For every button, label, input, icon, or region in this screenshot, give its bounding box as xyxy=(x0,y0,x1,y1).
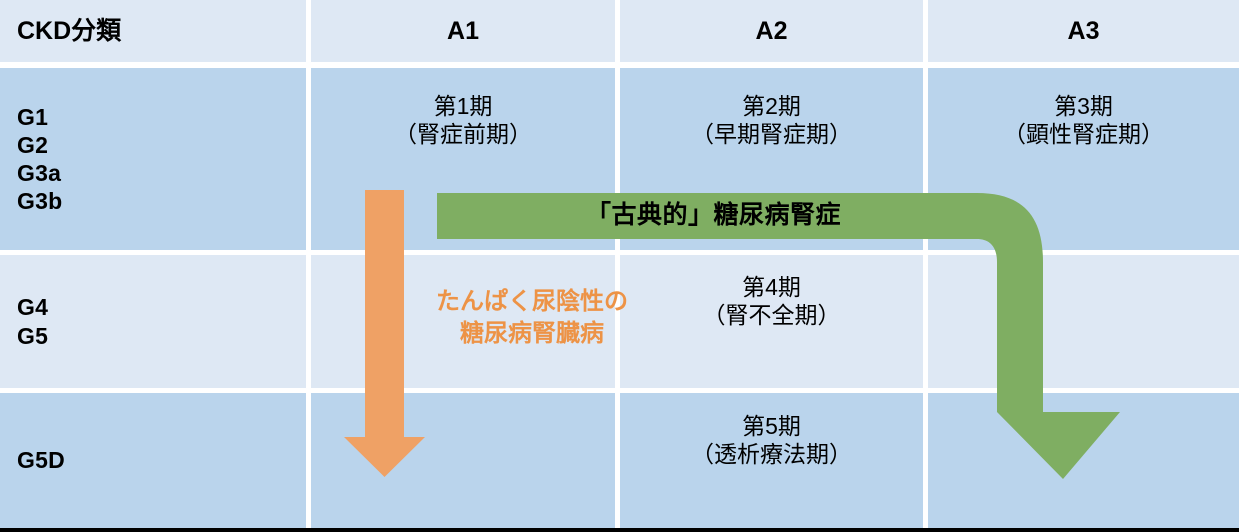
grade-label-g4: G4 xyxy=(17,293,48,321)
ckd-classification-figure: CKD分類 A1 A2 A3 G1 G2 G3a G3b 第1期 （腎症前期） … xyxy=(0,0,1239,532)
cell-r3-a3 xyxy=(928,393,1239,528)
stage-paren-r2-a2: （腎不全期） xyxy=(703,301,841,329)
grade-label-g1: G1 xyxy=(17,103,62,131)
stage-paren-r1-a2: （早期腎症期） xyxy=(691,120,852,148)
grade-label-g2: G2 xyxy=(17,131,62,159)
row-grades-g1-g3b: G1 G2 G3a G3b xyxy=(0,68,306,250)
header-cell-a3: A3 xyxy=(928,0,1239,62)
row-grades-g4-g5: G4 G5 xyxy=(0,255,306,388)
green-arrow-label: 「古典的」糖尿病腎症 xyxy=(437,193,990,239)
header-cell-a1: A1 xyxy=(311,0,615,62)
header-cell-title: CKD分類 xyxy=(0,0,306,62)
grade-label-g3b: G3b xyxy=(17,187,62,215)
header-cell-a2: A2 xyxy=(620,0,923,62)
cell-r2-a3 xyxy=(928,255,1239,388)
grade-label-g3a: G3a xyxy=(17,159,62,187)
orange-arrow-label-line1: たんぱく尿陰性の xyxy=(398,286,666,318)
figure-bottom-rule xyxy=(0,528,1239,532)
stage-paren-r1-a1: （腎症前期） xyxy=(394,120,532,148)
stage-name-r1-a1: 第1期 xyxy=(394,92,532,120)
orange-arrow-label: たんぱく尿陰性の 糖尿病腎臓病 xyxy=(398,286,666,349)
grade-label-g5d: G5D xyxy=(17,446,65,474)
grade-label-g5: G5 xyxy=(17,322,48,350)
stage-name-r3-a2: 第5期 xyxy=(691,412,852,440)
stage-paren-r3-a2: （透析療法期） xyxy=(691,440,852,468)
ckd-table: CKD分類 A1 A2 A3 G1 G2 G3a G3b 第1期 （腎症前期） … xyxy=(0,0,1239,528)
stage-paren-r1-a3: （顕性腎症期） xyxy=(1003,120,1164,148)
stage-name-r1-a2: 第2期 xyxy=(691,92,852,120)
stage-name-r2-a2: 第4期 xyxy=(703,273,841,301)
cell-r3-a1 xyxy=(311,393,615,528)
row-grades-g5d: G5D xyxy=(0,393,306,528)
orange-arrow-label-line2: 糖尿病腎臓病 xyxy=(398,318,666,350)
stage-name-r1-a3: 第3期 xyxy=(1003,92,1164,120)
cell-r3-a2: 第5期 （透析療法期） xyxy=(620,393,923,528)
